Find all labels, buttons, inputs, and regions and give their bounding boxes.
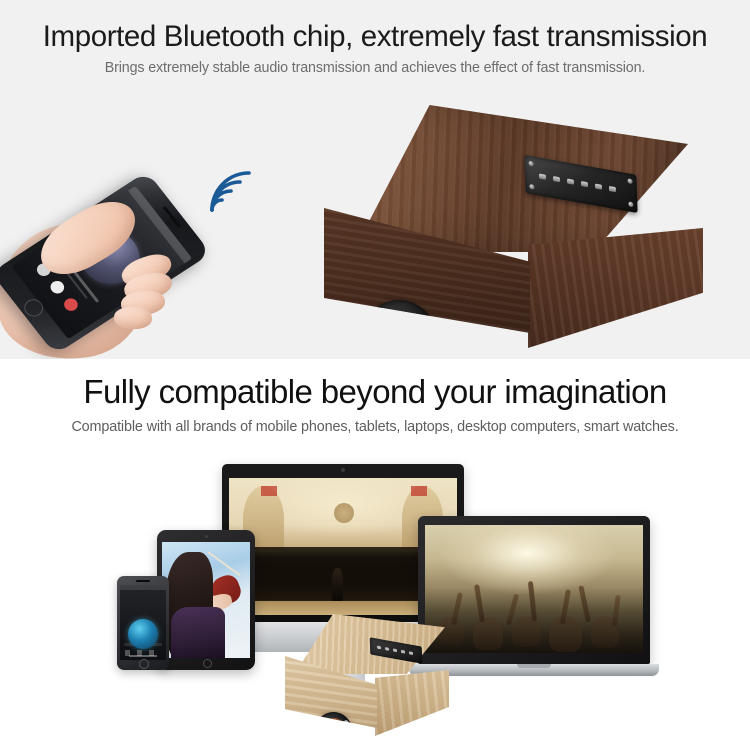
violinist-photo (162, 542, 250, 658)
driver-dome (383, 320, 415, 352)
favorite-icon (61, 296, 80, 313)
laptop-screen (425, 525, 643, 653)
driver-screw (339, 739, 345, 745)
crowd-head (512, 616, 540, 647)
driver-screw (510, 352, 521, 359)
control-button-icon (567, 178, 574, 184)
driver-screw (364, 342, 375, 353)
control-button-icon (409, 651, 413, 655)
conductor-figure (332, 568, 343, 601)
speaker-side-face (528, 228, 703, 348)
speaker-driver (445, 329, 533, 359)
finger-shape (114, 306, 153, 329)
control-button-icon (385, 647, 389, 651)
smartphone-device-compat (117, 576, 169, 670)
driver-cone (369, 307, 429, 359)
hall-banner (261, 486, 277, 496)
driver-screw (372, 311, 383, 322)
concert-crowd-photo (425, 525, 643, 653)
tablet-camera-icon (205, 535, 208, 538)
control-button-icon (377, 645, 381, 649)
album-art-icon (128, 619, 158, 649)
speaker-driver (355, 293, 443, 359)
laptop-hinge-notch (517, 664, 551, 668)
control-button-icon (539, 173, 546, 179)
driver-screw (462, 347, 473, 358)
driver-screw (364, 736, 370, 742)
driver-screw (316, 733, 322, 739)
playback-controls-row (125, 650, 162, 656)
bluetooth-signal-icon (206, 166, 256, 212)
hall-banner (411, 486, 427, 496)
phone-status-bar (120, 585, 166, 590)
speaker-side-face (375, 670, 449, 736)
tablet-home-button-icon (203, 659, 212, 668)
control-button-icon (609, 186, 616, 192)
raised-arm (579, 585, 592, 622)
play-pause-icon (48, 279, 67, 296)
raised-arm (474, 584, 485, 623)
phone-home-button-icon (139, 659, 149, 669)
product-detail-page: Imported Bluetooth chip, extremely fast … (0, 0, 750, 750)
webcam-icon (341, 468, 345, 472)
control-button-icon (553, 176, 560, 182)
section-bluetooth: Imported Bluetooth chip, extremely fast … (0, 0, 750, 359)
driver-screw (388, 738, 394, 744)
compatibility-headline: Fully compatible beyond your imagination (0, 373, 750, 411)
bluetooth-subtitle: Brings extremely stable audio transmissi… (0, 60, 750, 76)
tablet-device (157, 530, 255, 670)
phone-earpiece-icon (136, 580, 150, 582)
tablet-screen (162, 542, 250, 658)
laptop-device (418, 516, 650, 684)
speaker-driver (312, 709, 355, 750)
control-button-icon (581, 181, 588, 187)
panel-screw (529, 184, 534, 190)
hall-medallion (334, 503, 355, 524)
birch-speaker-product-image (265, 614, 450, 744)
crowd-head (549, 616, 582, 652)
control-button-icon (401, 650, 405, 654)
driver-dome (326, 722, 342, 738)
driver-screw (420, 316, 431, 327)
driver-cone (459, 343, 519, 359)
walnut-speaker-product-image (310, 100, 710, 358)
crowd-head (473, 617, 504, 650)
violinist-dress (171, 607, 226, 658)
compatibility-subtitle: Compatible with all brands of mobile pho… (0, 417, 750, 438)
section-compatibility: Fully compatible beyond your imagination… (0, 359, 750, 750)
phone-screen (120, 585, 166, 660)
bluetooth-headline: Imported Bluetooth chip, extremely fast … (0, 20, 750, 54)
laptop-lid (418, 516, 650, 664)
driver-screw (344, 720, 350, 726)
driver-screw (320, 717, 326, 723)
driver-cone (363, 734, 393, 750)
control-button-icon (393, 648, 397, 652)
control-button-icon (595, 183, 602, 189)
driver-dome (370, 741, 386, 750)
raised-arm (612, 595, 621, 626)
panel-screw (628, 201, 633, 207)
device-lineup (0, 454, 750, 750)
panel-screw (529, 161, 534, 167)
panel-screw (627, 178, 632, 184)
